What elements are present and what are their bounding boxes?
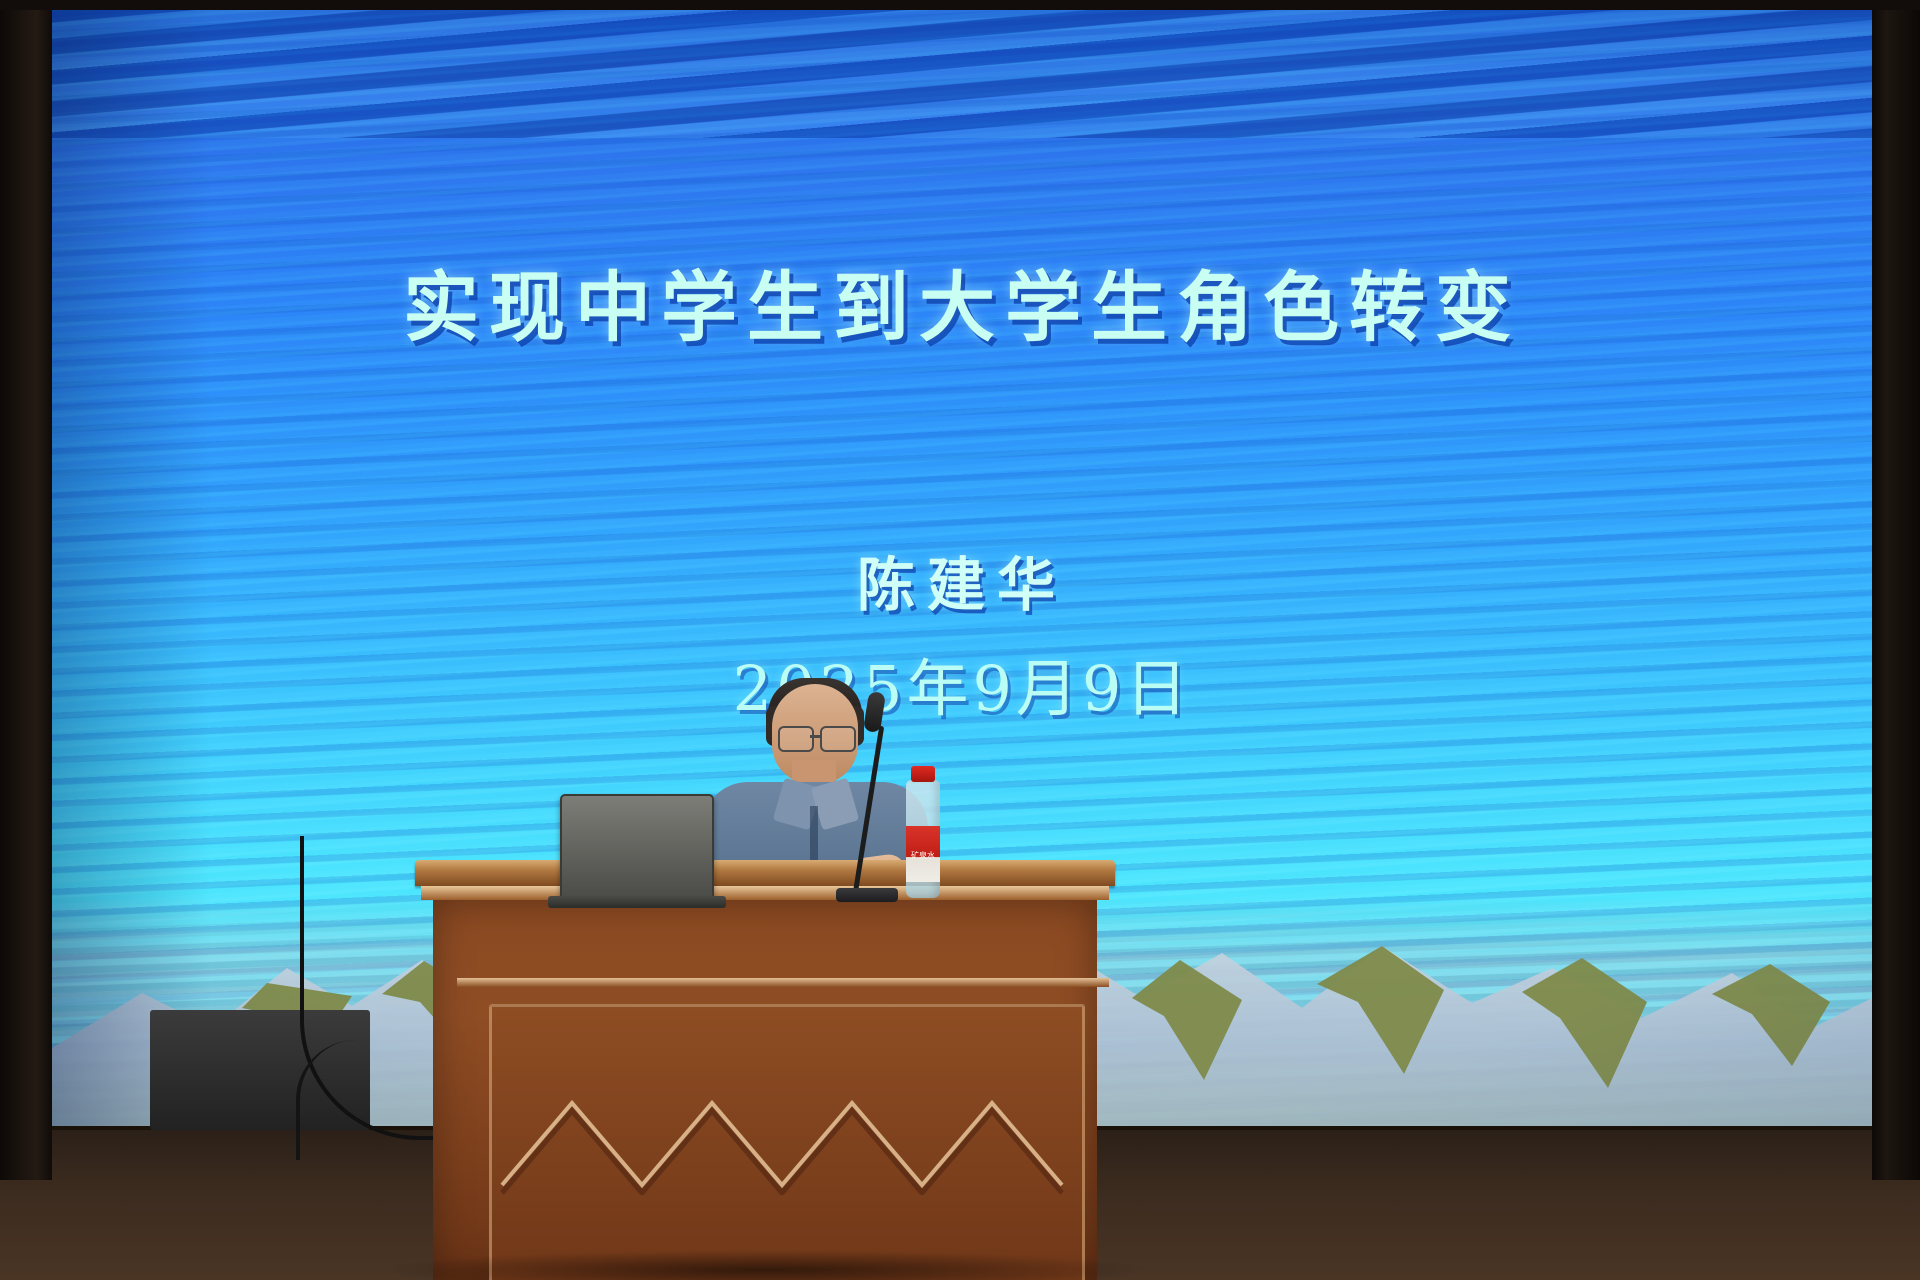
laptop (560, 794, 714, 898)
photo-scene: 实现中学生到大学生角色转变 陈建华 2025年9月9日 矿泉水 (0, 0, 1920, 1280)
podium-body (433, 900, 1097, 1280)
slide-date: 2025年9月9日 (52, 638, 1872, 728)
laptop-base (548, 896, 726, 908)
podium-front-panel (489, 1004, 1085, 1280)
podium-lip-trim (421, 886, 1109, 900)
water-bottle-label-text: 矿泉水 (906, 851, 940, 860)
auditorium-ceiling-edge (0, 0, 1920, 10)
auditorium-wall-left (0, 0, 52, 1180)
microphone-base (836, 888, 898, 902)
water-bottle-cap (911, 766, 935, 782)
podium (415, 860, 1115, 1280)
eyeglasses-bridge (810, 735, 820, 738)
podium-rail-trim (457, 978, 1109, 987)
auditorium-wall-right (1872, 0, 1920, 1180)
shirt-placket (810, 806, 818, 864)
slide-title: 实现中学生到大学生角色转变 (52, 246, 1872, 356)
eyeglasses-right-lens (820, 726, 856, 752)
podium-diamond-inlay (492, 1085, 1082, 1195)
eyeglasses-left-lens (778, 726, 814, 752)
podium-top-surface (415, 860, 1115, 886)
slide-author-name: 陈建华 (52, 538, 1872, 622)
podium-floor-shadow (375, 1250, 1155, 1280)
